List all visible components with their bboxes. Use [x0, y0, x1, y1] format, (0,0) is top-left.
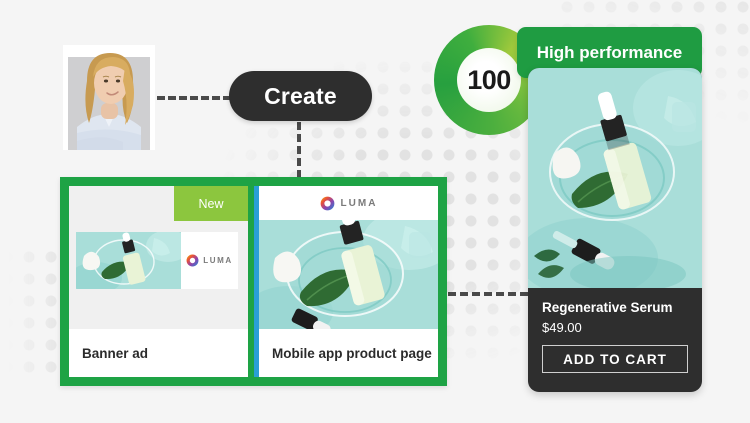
add-to-cart-button[interactable]: ADD TO CART	[542, 345, 688, 373]
portrait-photo-icon	[63, 45, 155, 150]
product-title: Regenerative Serum	[542, 300, 688, 316]
luma-wordmark: LUMA	[341, 198, 378, 209]
asset-card-banner-ad[interactable]: New	[69, 186, 248, 377]
serum-product-photo-icon	[528, 68, 702, 288]
product-details: Regenerative Serum $49.00 ADD TO CART	[528, 288, 702, 392]
product-price: $49.00	[542, 320, 688, 335]
asset-card-mobile-product-page[interactable]: LUMA	[254, 186, 438, 377]
banner-ad-creative: LUMA	[76, 232, 238, 289]
create-button-label: Create	[264, 83, 337, 110]
asset-card-banner-ad-label: Banner ad	[69, 329, 248, 377]
banner-ad-preview: New	[69, 186, 248, 329]
score-value: 100	[467, 65, 511, 96]
new-badge: New	[174, 186, 248, 221]
connector-create-to-assets	[297, 122, 301, 178]
asset-card-mobile-product-page-label: Mobile app product page	[259, 329, 438, 377]
new-badge-label: New	[198, 197, 223, 211]
serum-banner-photo-icon	[76, 232, 181, 289]
banner-ad-image	[76, 232, 181, 289]
mobile-product-page-preview: LUMA	[259, 186, 438, 329]
luma-logo-icon	[320, 196, 335, 211]
luma-wordmark: LUMA	[203, 256, 233, 265]
illustration-canvas: Create 100 High performance	[0, 0, 750, 423]
serum-mobile-photo-icon	[259, 220, 438, 329]
banner-ad-brand: LUMA	[181, 232, 238, 289]
score-center: 100	[457, 48, 521, 112]
mobile-page-brand: LUMA	[259, 186, 438, 220]
product-card[interactable]: Regenerative Serum $49.00 ADD TO CART	[528, 68, 702, 392]
luma-logo-icon	[186, 254, 199, 267]
connector-photo-to-create	[157, 96, 231, 100]
persona-photo	[63, 45, 155, 150]
generated-assets-panel: New	[60, 177, 447, 386]
create-button[interactable]: Create	[229, 71, 372, 121]
product-image	[528, 68, 702, 288]
high-performance-badge-label: High performance	[537, 43, 682, 63]
connector-assets-to-product	[448, 292, 528, 296]
mobile-product-image	[259, 220, 438, 329]
